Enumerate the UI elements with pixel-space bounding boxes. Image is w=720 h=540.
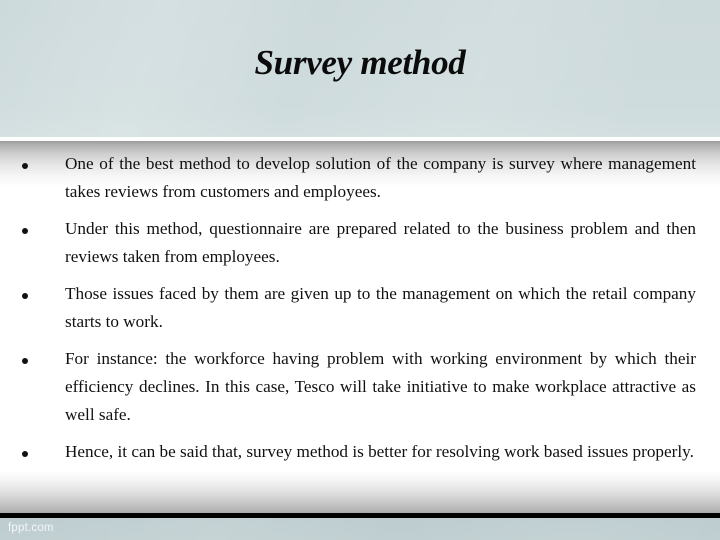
presentation-slide: Survey method One of the best method to … [0,0,720,540]
bullet-text: One of the best method to develop soluti… [65,150,696,206]
slide-title: Survey method [0,43,720,83]
bullet-item: Those issues faced by them are given up … [0,280,720,336]
bullet-list: One of the best method to develop soluti… [0,141,720,475]
slide-footer-band: fppt.com [0,518,720,540]
bullet-item: Hence, it can be said that, survey metho… [0,438,720,466]
slide-header-band: Survey method [0,0,720,137]
bullet-dot-icon [22,163,28,169]
bullet-dot-icon [22,228,28,234]
bullet-text: Under this method, questionnaire are pre… [65,215,696,271]
bullet-item: One of the best method to develop soluti… [0,141,720,206]
bullet-dot-icon [22,451,28,457]
footer-gloss-overlay [0,518,720,540]
bullet-dot-icon [22,358,28,364]
bullet-text: Hence, it can be said that, survey metho… [65,438,696,466]
footer-watermark: fppt.com [8,522,54,534]
bullet-text: Those issues faced by them are given up … [65,280,696,336]
bullet-dot-icon [22,293,28,299]
slide-body: One of the best method to develop soluti… [0,141,720,481]
bullet-text: For instance: the workforce having probl… [65,345,696,429]
bullet-item: For instance: the workforce having probl… [0,345,720,429]
bullet-item: Under this method, questionnaire are pre… [0,215,720,271]
